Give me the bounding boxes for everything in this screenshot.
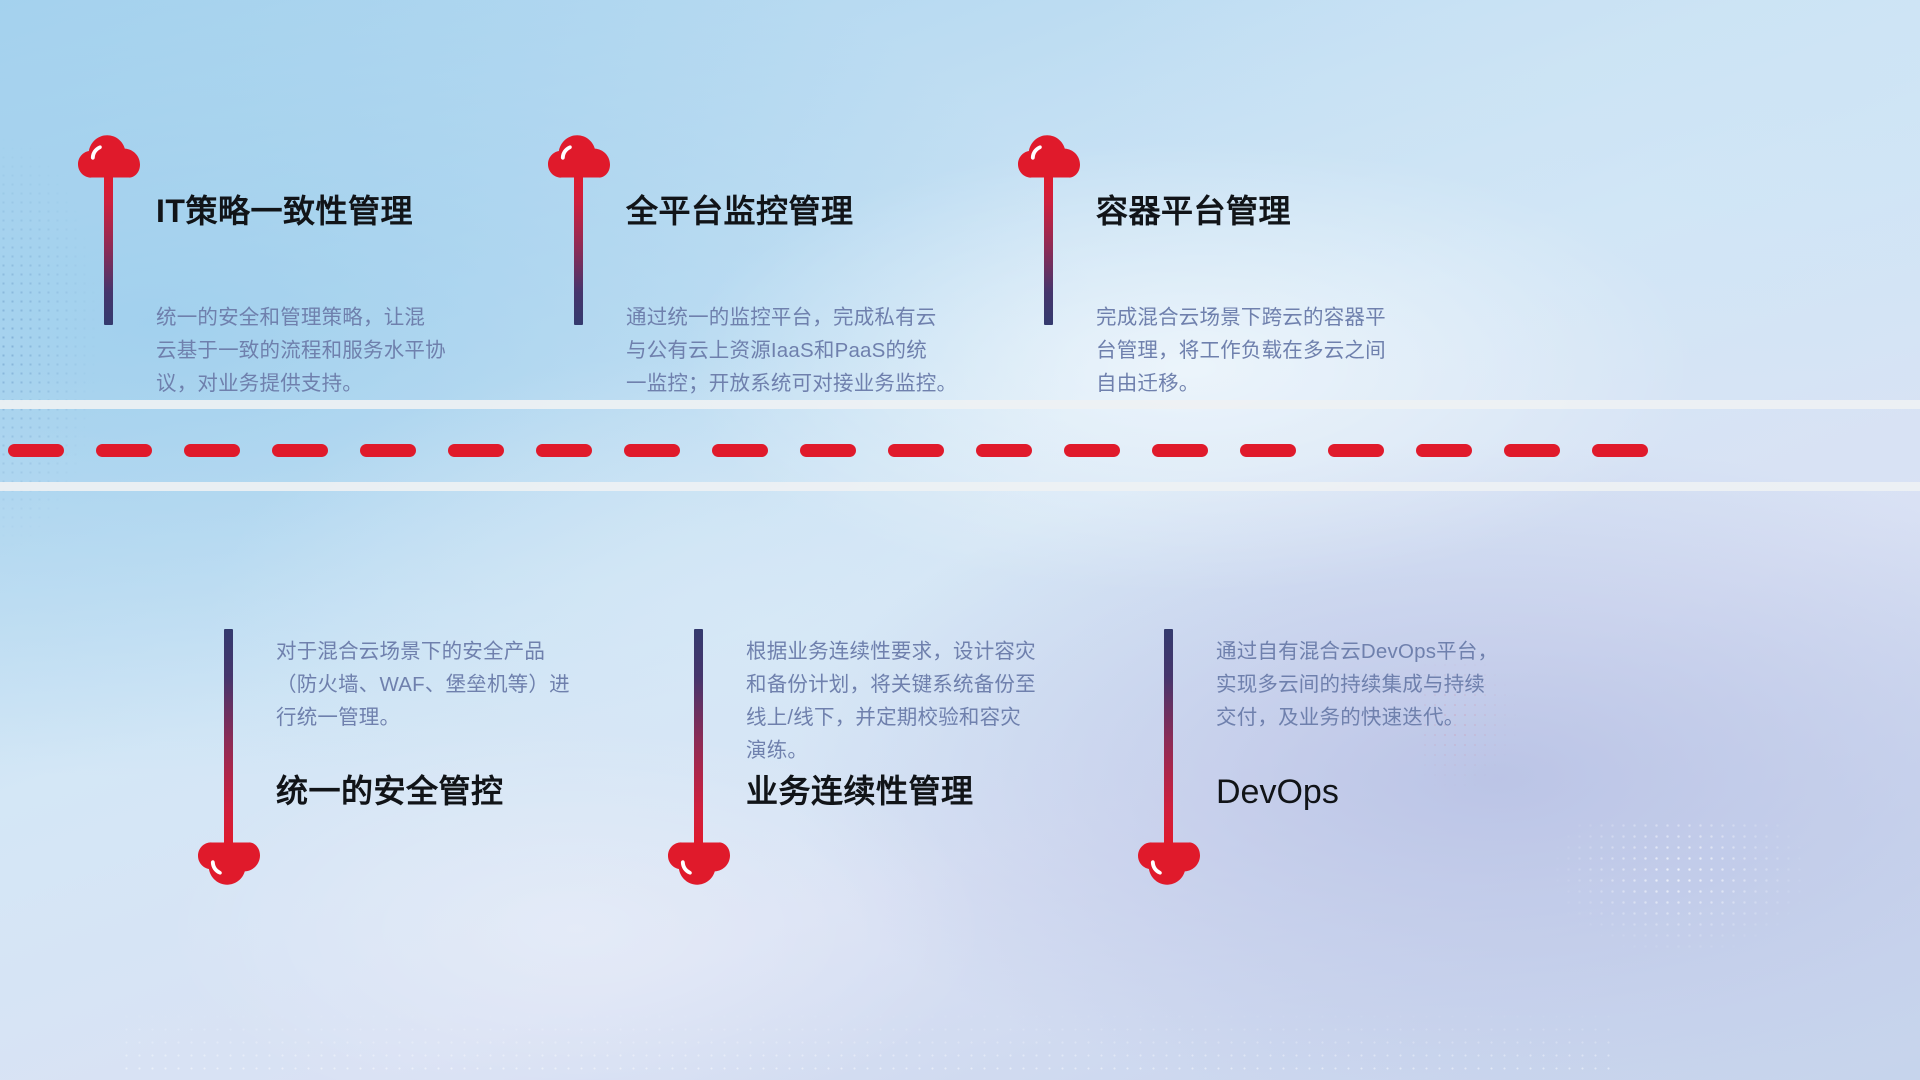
bottom-item-2-title: 业务连续性管理 [746, 775, 974, 807]
bottom-item-1-title: 统一的安全管控 [276, 775, 504, 807]
cloud-icon [548, 133, 610, 179]
bottom-item-2-body: 根据业务连续性要求，设计容灾 和备份计划，将关键系统备份至 线上/线下，并定期校… [746, 635, 1036, 767]
top-item-2-body: 通过统一的监控平台，完成私有云 与公有云上资源IaaS和PaaS的统 一监控；开… [626, 301, 957, 400]
connector-line [104, 175, 113, 325]
connector-line [694, 629, 703, 847]
cloud-icon [198, 841, 260, 887]
connector-line [224, 629, 233, 847]
bottom-item-3-title: DevOps [1216, 775, 1339, 809]
top-item-3-body: 完成混合云场景下跨云的容器平 台管理，将工作负载在多云之间 自由迁移。 [1096, 301, 1386, 400]
connector-line [574, 175, 583, 325]
top-item-2-title: 全平台监控管理 [626, 195, 854, 227]
top-item-1-title: IT策略一致性管理 [156, 195, 413, 227]
top-item-3-title: 容器平台管理 [1096, 195, 1291, 227]
infographic-content: IT策略一致性管理 统一的安全和管理策略，让混 云基于一致的流程和服务水平协 议… [0, 0, 1920, 1080]
cloud-icon [668, 841, 730, 887]
cloud-icon [1138, 841, 1200, 887]
connector-line [1044, 175, 1053, 325]
bottom-item-3-body: 通过自有混合云DevOps平台， 实现多云间的持续集成与持续 交付，及业务的快速… [1216, 635, 1498, 734]
connector-line [1164, 629, 1173, 847]
bottom-item-1-body: 对于混合云场景下的安全产品 （防火墙、WAF、堡垒机等）进 行统一管理。 [276, 635, 570, 734]
cloud-icon [1018, 133, 1080, 179]
cloud-icon [78, 133, 140, 179]
top-item-1-body: 统一的安全和管理策略，让混 云基于一致的流程和服务水平协 议，对业务提供支持。 [156, 301, 446, 400]
